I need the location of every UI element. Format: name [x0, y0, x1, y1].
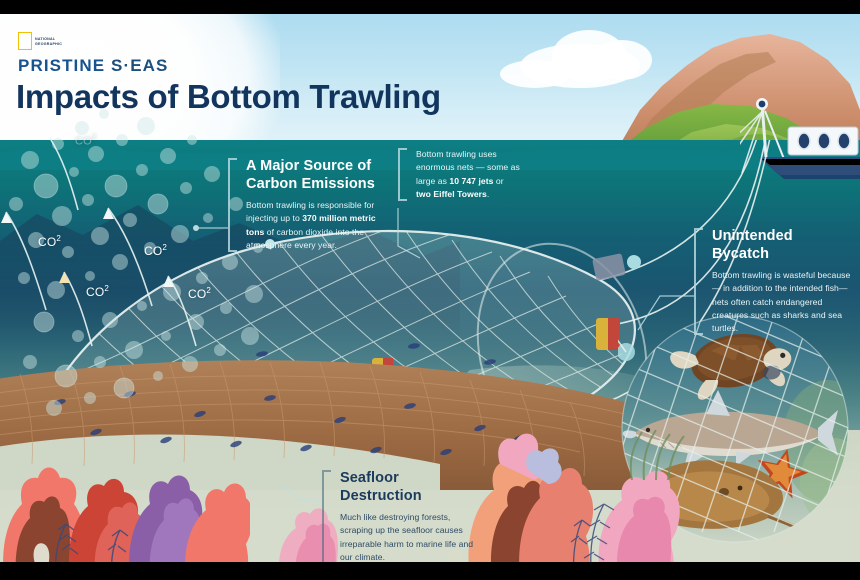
- callout-heading: Unintended Bycatch: [712, 228, 852, 263]
- co2-label: CO2: [38, 234, 61, 249]
- co2-label: CO2: [86, 284, 109, 299]
- co2-label: CO2: [75, 133, 97, 148]
- callout-body: Bottom trawling is wasteful because— in …: [712, 269, 852, 334]
- callout-unintended-bycatch: Unintended Bycatch Bottom trawling is wa…: [694, 228, 852, 335]
- callout-bracket: [228, 158, 237, 252]
- ng-wordmark-line2: GEOGRAPHIC: [35, 42, 62, 47]
- callout-bracket: [694, 228, 703, 335]
- callout-heading: A Major Source of Carbon Emissions: [246, 158, 380, 193]
- callout-heading: Seafloor Destruction: [340, 470, 474, 505]
- callout-bracket: [398, 148, 407, 201]
- frame-letterbox-bottom: [0, 562, 860, 580]
- otter-board: [592, 253, 641, 281]
- callout-body: Much like destroying forests, scraping u…: [340, 511, 474, 563]
- page-title: Impacts of Bottom Trawling: [16, 78, 441, 116]
- brand-lockup: NATIONAL GEOGRAPHIC PRISTINE S·EAS: [18, 32, 169, 76]
- callout-body: Bottom trawling is responsible for injec…: [246, 199, 380, 251]
- callout-carbon-emissions: A Major Source of Carbon Emissions Botto…: [228, 158, 380, 252]
- infographic-canvas: CO2 CO2 CO2 CO2 CO2 NATIONAL GEOGRAPHIC: [0, 0, 860, 580]
- frame-letterbox-top: [0, 0, 860, 14]
- callout-bracket: [322, 470, 331, 564]
- callout-enormous-nets: Bottom trawling uses enormous nets — som…: [398, 148, 520, 201]
- co2-label: CO2: [144, 243, 167, 258]
- callout-seafloor-destruction: Seafloor Destruction Much like destroyin…: [322, 470, 474, 564]
- cloud-icon: [500, 60, 570, 88]
- callout-body: Bottom trawling uses enormous nets — som…: [416, 148, 520, 201]
- national-geographic-border-icon: [18, 32, 32, 50]
- seagrass-tuft: [620, 410, 710, 480]
- co2-label: CO2: [188, 286, 211, 301]
- pristine-seas-wordmark: PRISTINE S·EAS: [18, 56, 169, 76]
- coral-reef-left: [0, 420, 250, 580]
